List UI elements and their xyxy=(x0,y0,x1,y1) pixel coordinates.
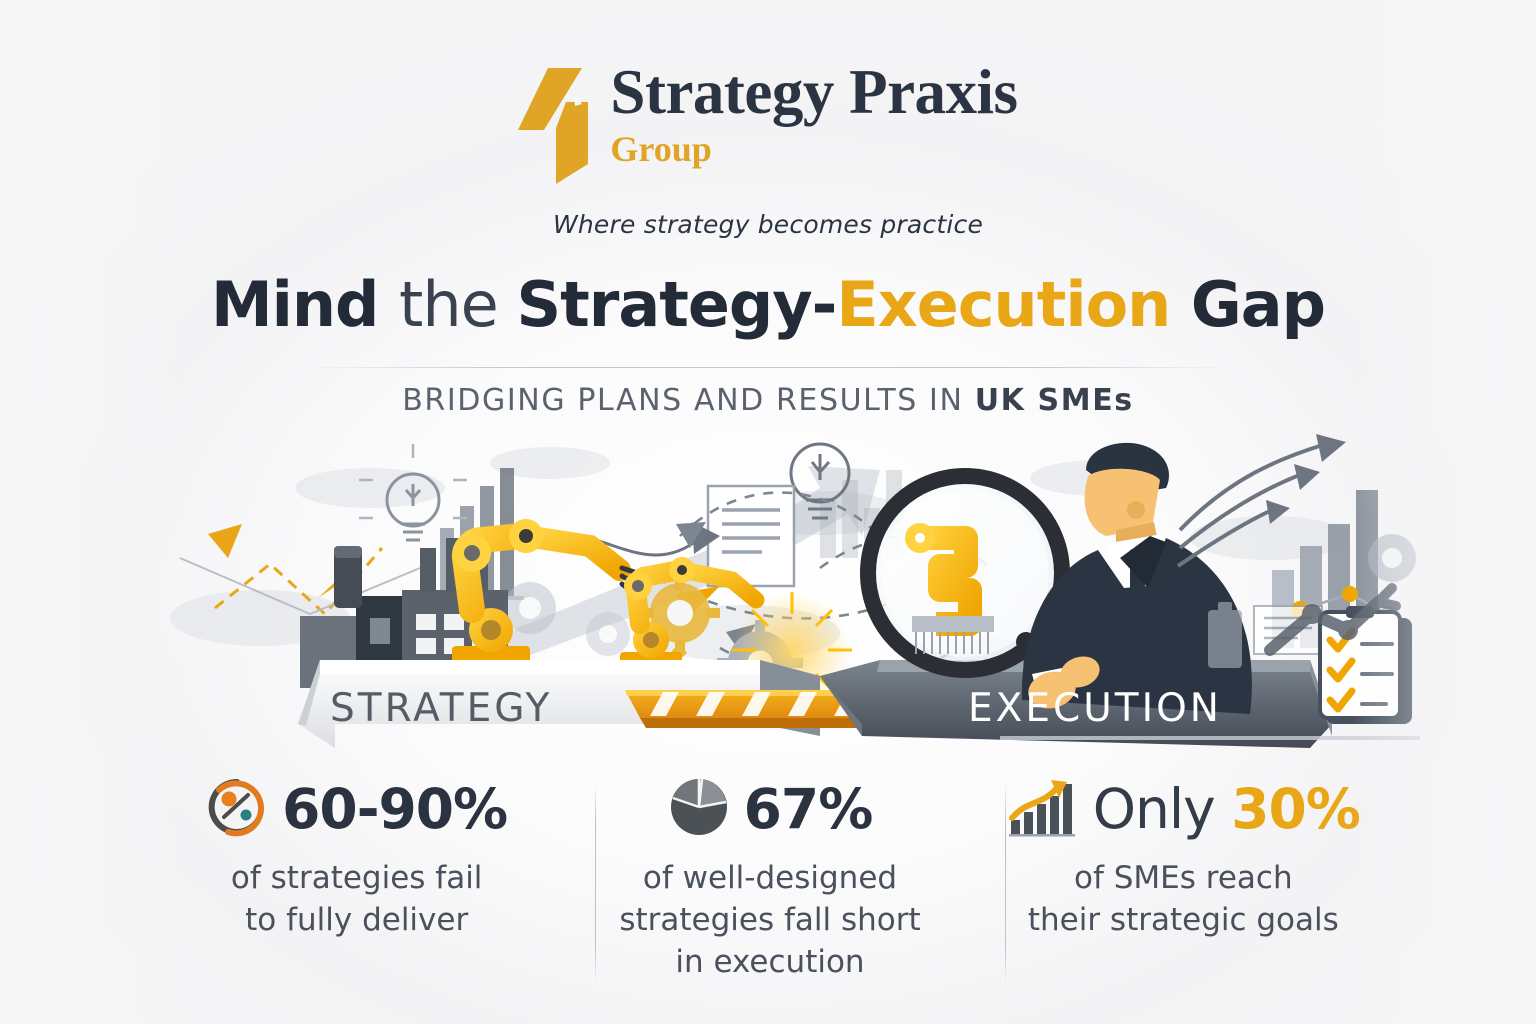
stat-3-desc-line1: of SMEs reach xyxy=(1028,858,1339,900)
stat-1-head: 60-90% xyxy=(206,770,507,848)
stat-2-description: of well-designed strategies fall short i… xyxy=(619,858,920,984)
brand-logo: Strategy Praxis Group xyxy=(0,62,1536,184)
stat-divider-1 xyxy=(595,784,596,984)
stat-3-value: Only 30% xyxy=(1093,777,1360,841)
percent-ring-icon xyxy=(206,776,268,843)
stat-card-3: Only 30% of SMEs reach their strategic g… xyxy=(977,770,1390,1000)
stat-1-description: of strategies fail to fully deliver xyxy=(231,858,483,942)
stat-2-desc-line2: strategies fall short xyxy=(619,900,920,942)
stat-2-desc-line1: of well-designed xyxy=(619,858,920,900)
stat-1-desc-line2: to fully deliver xyxy=(231,900,483,942)
page-subtitle: BRIDGING PLANS AND RESULTS IN UK SMEs xyxy=(0,383,1536,418)
stat-divider-2 xyxy=(1005,784,1006,984)
title-divider xyxy=(300,367,1236,368)
title-part-execution: Execution xyxy=(836,268,1170,341)
pie-chart-icon xyxy=(668,776,730,843)
logo-mark-icon xyxy=(518,68,596,184)
subtitle-emphasis: UK SMEs xyxy=(975,383,1134,418)
title-part-the: the xyxy=(399,268,516,341)
stat-1-desc-line1: of strategies fail xyxy=(231,858,483,900)
stat-1-value: 60-90% xyxy=(282,777,507,841)
briefcase-icon xyxy=(1208,602,1242,668)
subtitle-prefix: BRIDGING PLANS AND RESULTS IN xyxy=(402,383,974,418)
page-title: Mind the Strategy-Execution Gap xyxy=(0,272,1536,337)
brand-name-primary: Strategy Praxis xyxy=(610,62,1017,124)
strategy-platform-label: STRATEGY xyxy=(330,686,552,731)
stat-3-value-number: 30% xyxy=(1231,777,1360,841)
stat-2-desc-line3: in execution xyxy=(619,942,920,984)
statistics-row: 60-90% of strategies fail to fully deliv… xyxy=(150,770,1390,1000)
title-part-gap: Gap xyxy=(1170,268,1325,341)
brand-name-secondary: Group xyxy=(610,128,1017,171)
stat-3-value-prefix: Only xyxy=(1093,777,1231,841)
stat-2-head: 67% xyxy=(668,770,873,848)
stat-3-description: of SMEs reach their strategic goals xyxy=(1028,858,1339,942)
stat-2-value: 67% xyxy=(744,777,873,841)
arrow-up-icon xyxy=(1316,434,1346,462)
growth-bar-chart-icon xyxy=(1007,776,1079,843)
stat-card-2: 67% of well-designed strategies fall sho… xyxy=(563,770,976,1000)
arrow-up-icon xyxy=(208,524,242,558)
stat-3-desc-line2: their strategic goals xyxy=(1028,900,1339,942)
ground-line xyxy=(1000,736,1420,740)
gear-icon xyxy=(1368,534,1416,582)
arrow-up-icon xyxy=(1294,464,1320,490)
title-part-strategy: Strategy- xyxy=(516,268,836,341)
title-part-mind: Mind xyxy=(211,268,399,341)
brand-tagline: Where strategy becomes practice xyxy=(0,210,1536,239)
illustration-scene xyxy=(120,418,1420,748)
execution-platform-label: EXECUTION xyxy=(968,686,1222,731)
stat-3-head: Only 30% xyxy=(1007,770,1360,848)
stat-card-1: 60-90% of strategies fail to fully deliv… xyxy=(150,770,563,1000)
